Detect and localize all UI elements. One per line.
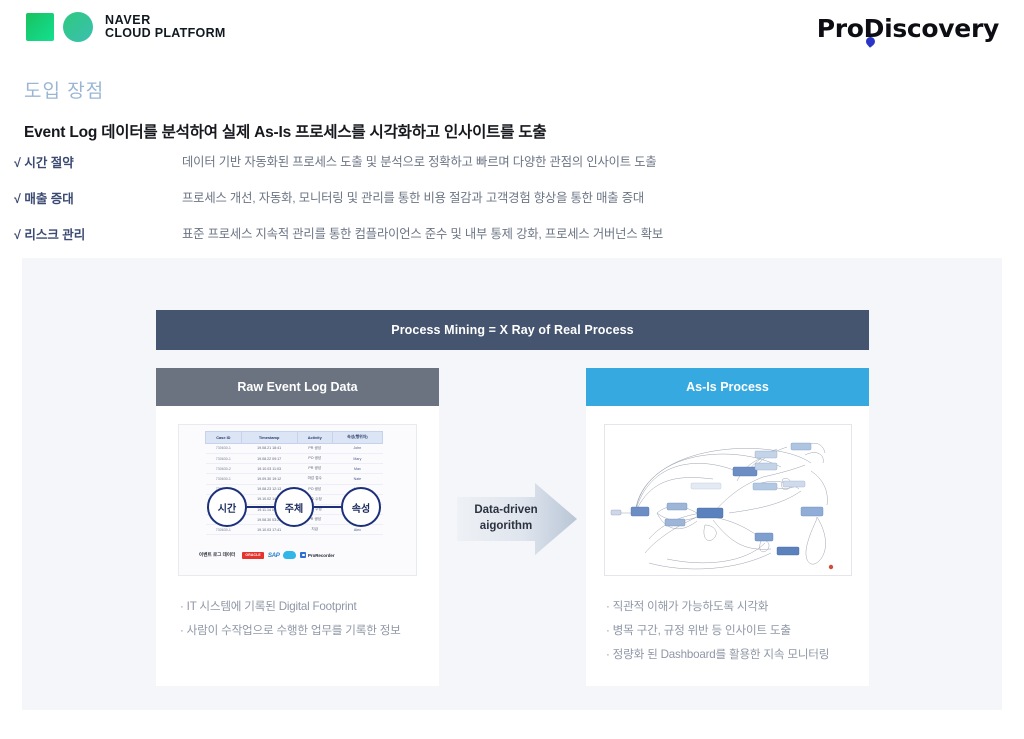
prorecorder-logo: ProRecorder: [300, 552, 334, 558]
list-item: · 정량화 된 Dashboard를 활용한 지속 모니터링: [606, 643, 829, 667]
circle-connector-line: [247, 506, 274, 508]
banner-emphasis: X Ray: [500, 323, 535, 337]
banner-suffix: of Real Process: [535, 323, 634, 337]
naver-logo-line2: CLOUD PLATFORM: [105, 27, 226, 41]
circle-time: 시간: [207, 487, 247, 527]
list-item: · 병목 구간, 규정 위반 등 인사이트 도출: [606, 619, 829, 643]
event-log-source-logos: 이벤트 로그 데이터 ORACLE SAP ProRecorder: [199, 551, 399, 559]
benefit-description: 프로세스 개선, 자동화, 모니터링 및 관리를 통한 비용 절감과 고객경험 …: [182, 188, 644, 206]
process-map-graph: [605, 425, 852, 576]
list-item: · IT 시스템에 기록된 Digital Footprint: [180, 595, 401, 619]
diagram-banner-text: Process Mining = X Ray of Real Process: [391, 323, 633, 337]
benefit-row: √ 매출 증대 프로세스 개선, 자동화, 모니터링 및 관리를 통한 비용 절…: [0, 188, 1024, 224]
table-row: 730630-119.08.21 18:41PR 생성John: [206, 443, 383, 453]
arrow-label: Data-driven aigorithm: [457, 503, 555, 534]
cell-actor: Max: [332, 464, 382, 474]
prorecorder-label: ProRecorder: [308, 553, 335, 558]
benefit-description: 표준 프로세스 지속적 관리를 통한 컴플라이언스 준수 및 내부 통제 강화,…: [182, 224, 663, 242]
cell-actor: Nate: [332, 474, 382, 484]
benefit-label: √ 시간 절약: [14, 152, 74, 171]
cell-actor: Mary: [332, 453, 382, 463]
cell-case-id: 730630-1: [206, 474, 242, 484]
table-row: 730630-219.10.03 11:03PR 생성Max: [206, 464, 383, 474]
cell-case-id: 730630-1: [206, 453, 242, 463]
event-log-circle-annotations: 시간 주체 속성: [205, 487, 383, 527]
page-headline: Event Log 데이터를 분석하여 실제 As-Is 프로세스를 시각화하고…: [24, 120, 547, 142]
table-column-header: Activity: [297, 432, 332, 444]
cell-actor: John: [332, 443, 382, 453]
cell-timestamp: 19.08.21 18:41: [241, 443, 297, 453]
column-header-raw-event-log: Raw Event Log Data: [156, 368, 439, 406]
arrow-label-line1: Data-driven: [457, 503, 555, 519]
cell-activity: 마감 접수: [297, 474, 332, 484]
right-bullet-list: · 직관적 이해가 가능하도록 시각화 · 병목 구간, 규정 위반 등 인사이…: [606, 595, 829, 666]
salesforce-cloud-icon: [283, 551, 296, 559]
cell-activity: PR 생성: [297, 443, 332, 453]
benefits-list: √ 시간 절약 데이터 기반 자동화된 프로세스 도출 및 분석으로 정확하고 …: [0, 152, 1024, 260]
diagram-banner: Process Mining = X Ray of Real Process: [156, 310, 869, 350]
prorecorder-icon: [300, 552, 306, 558]
cell-case-id: 730630-1: [206, 443, 242, 453]
naver-cloud-platform-logo: NAVER CLOUD PLATFORM: [26, 12, 226, 42]
cell-timestamp: 19.09.30 19:12: [241, 474, 297, 484]
source-caption: 이벤트 로그 데이터: [199, 552, 235, 558]
benefit-description: 데이터 기반 자동화된 프로세스 도출 및 분석으로 정확하고 빠르며 다양한 …: [182, 152, 657, 170]
circle-attribute: 속성: [341, 487, 381, 527]
cell-case-id: 730630-2: [206, 464, 242, 474]
cell-timestamp: 19.10.03 11:03: [241, 464, 297, 474]
prodiscovery-logo: ProDiscovery: [817, 14, 999, 43]
circle-connector-line: [314, 506, 341, 508]
oracle-logo: ORACLE: [242, 552, 264, 559]
process-map-nodes: [611, 443, 833, 569]
table-column-header: 속성(행위자): [332, 432, 382, 444]
prodiscovery-logo-text: ProDiscovery: [817, 14, 999, 43]
benefit-label: √ 리스크 관리: [14, 224, 85, 243]
table-row: 730630-119.09.30 19:12마감 접수Nate: [206, 474, 383, 484]
event-log-thumbnail: Case ID Timestamp Activity 속성(행위자) 73063…: [178, 424, 417, 576]
benefit-row: √ 리스크 관리 표준 프로세스 지속적 관리를 통한 컴플라이언스 준수 및 …: [0, 224, 1024, 260]
column-header-left-label: Raw Event Log Data: [237, 380, 357, 394]
sap-logo: SAP: [268, 552, 280, 559]
list-item: · 직관적 이해가 가능하도록 시각화: [606, 595, 829, 619]
cell-activity: PO 생성: [297, 453, 332, 463]
banner-prefix: Process Mining =: [391, 323, 499, 337]
naver-logo-line1: NAVER: [105, 14, 226, 28]
table-column-header: Timestamp: [241, 432, 297, 444]
table-header-row: Case ID Timestamp Activity 속성(행위자): [206, 432, 383, 444]
benefit-row: √ 시간 절약 데이터 기반 자동화된 프로세스 도출 및 분석으로 정확하고 …: [0, 152, 1024, 188]
left-bullet-list: · IT 시스템에 기록된 Digital Footprint · 사람이 수작…: [180, 595, 401, 643]
list-item: · 사람이 수작업으로 수행한 업무를 기록한 정보: [180, 619, 401, 643]
table-row: 730630-119.08.22 09:17PO 생성Mary: [206, 453, 383, 463]
as-is-process-map-thumbnail: [604, 424, 852, 576]
column-header-right-label: As-Is Process: [686, 380, 769, 394]
arrow-label-line2: aigorithm: [457, 519, 555, 535]
benefit-label: √ 매출 증대: [14, 188, 74, 207]
page-section-title: 도입 장점: [24, 76, 104, 103]
slide-root: NAVER CLOUD PLATFORM ProDiscovery 도입 장점 …: [0, 0, 1024, 739]
cell-timestamp: 19.08.22 09:17: [241, 453, 297, 463]
naver-logo-text: NAVER CLOUD PLATFORM: [105, 14, 226, 41]
column-header-as-is-process: As-Is Process: [586, 368, 869, 406]
naver-circle-icon: [63, 12, 93, 42]
cell-activity: PR 생성: [297, 464, 332, 474]
circle-subject: 주체: [274, 487, 314, 527]
table-column-header: Case ID: [206, 432, 242, 444]
naver-square-icon: [26, 13, 54, 41]
